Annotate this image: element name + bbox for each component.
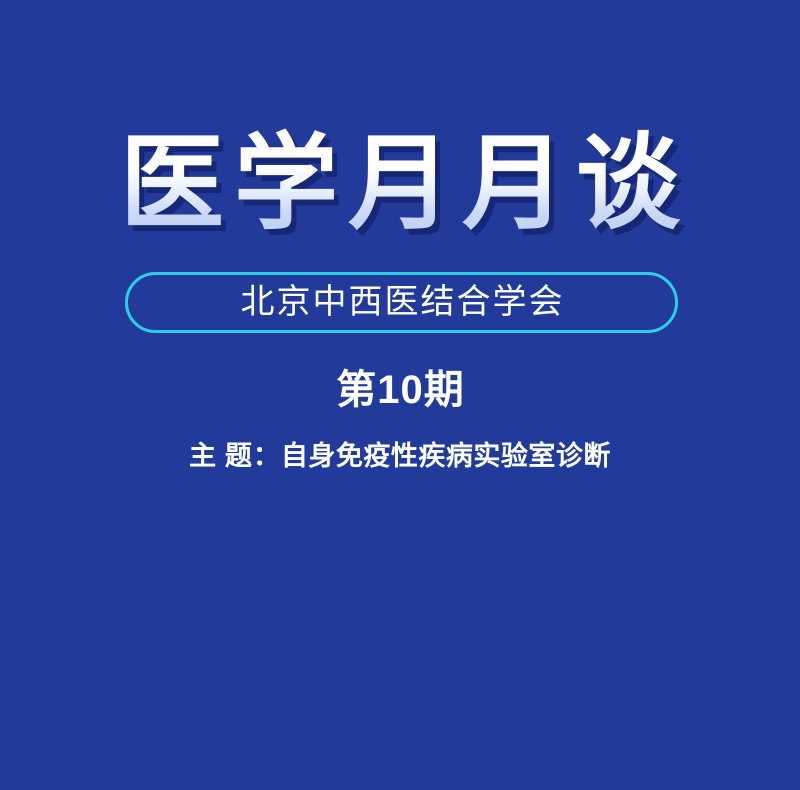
organization-badge: 北京中西医结合学会 (125, 272, 678, 333)
topic-line: 主 题：自身免疫性疾病实验室诊断 (0, 441, 800, 472)
poster-title-block: 医学月月谈 (0, 128, 800, 242)
topic-label: 主 题： (189, 441, 281, 471)
organization-name: 北京中西医结合学会 (239, 286, 565, 320)
topic-value: 自身免疫性疾病实验室诊断 (281, 441, 611, 471)
issue-number: 第10期 (0, 368, 800, 412)
page-title: 医学月月谈 (110, 128, 690, 242)
poster-canvas: 医学月月谈 北京中西医结合学会 第10期 主 题：自身免疫性疾病实验室诊断 (0, 0, 800, 790)
